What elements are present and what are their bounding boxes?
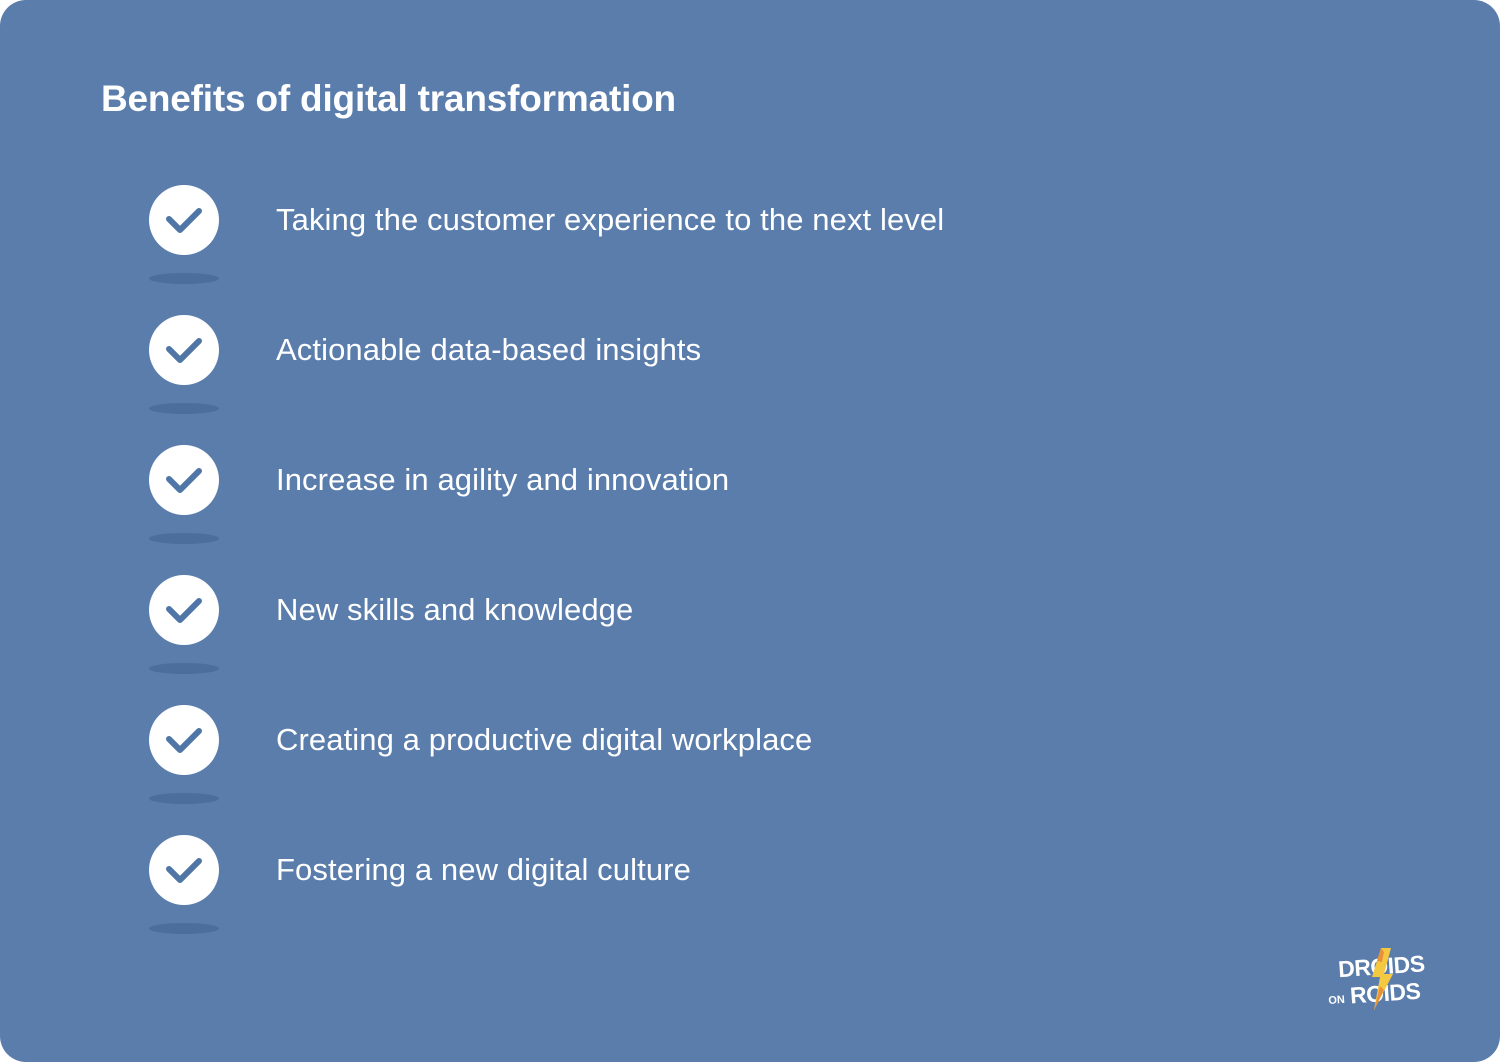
list-item-label: New skills and knowledge bbox=[276, 568, 633, 652]
list-item: Increase in agility and innovation bbox=[0, 438, 1500, 568]
icon-drop-shadow bbox=[149, 793, 219, 804]
check-circle-background bbox=[149, 575, 219, 645]
page-title: Benefits of digital transformation bbox=[101, 78, 676, 120]
droids-on-roids-logo: DROIDS ON ROIDS bbox=[1325, 946, 1445, 1012]
list-item: New skills and knowledge bbox=[0, 568, 1500, 698]
check-circle-icon bbox=[149, 315, 219, 385]
check-circle-icon bbox=[149, 445, 219, 515]
list-item-label: Taking the customer experience to the ne… bbox=[276, 178, 944, 262]
check-circle-icon bbox=[149, 185, 219, 255]
list-item: Creating a productive digital workplace bbox=[0, 698, 1500, 828]
check-circle-background bbox=[149, 185, 219, 255]
icon-drop-shadow bbox=[149, 273, 219, 284]
benefits-list: Taking the customer experience to the ne… bbox=[0, 178, 1500, 958]
list-item-label: Creating a productive digital workplace bbox=[276, 698, 812, 782]
list-item: Fostering a new digital culture bbox=[0, 828, 1500, 958]
icon-drop-shadow bbox=[149, 663, 219, 674]
list-item: Actionable data-based insights bbox=[0, 308, 1500, 438]
list-item-label: Fostering a new digital culture bbox=[276, 828, 691, 912]
check-circle-icon bbox=[149, 835, 219, 905]
icon-drop-shadow bbox=[149, 533, 219, 544]
check-circle-icon bbox=[149, 705, 219, 775]
infographic-canvas: Benefits of digital transformation Takin… bbox=[0, 0, 1500, 1062]
icon-drop-shadow bbox=[149, 923, 219, 934]
check-circle-background bbox=[149, 315, 219, 385]
list-item-label: Actionable data-based insights bbox=[276, 308, 701, 392]
check-circle-icon bbox=[149, 575, 219, 645]
check-circle-background bbox=[149, 835, 219, 905]
list-item: Taking the customer experience to the ne… bbox=[0, 178, 1500, 308]
check-circle-background bbox=[149, 705, 219, 775]
icon-drop-shadow bbox=[149, 403, 219, 414]
check-circle-background bbox=[149, 445, 219, 515]
list-item-label: Increase in agility and innovation bbox=[276, 438, 729, 522]
logo-line-on: ON bbox=[1328, 994, 1345, 1007]
